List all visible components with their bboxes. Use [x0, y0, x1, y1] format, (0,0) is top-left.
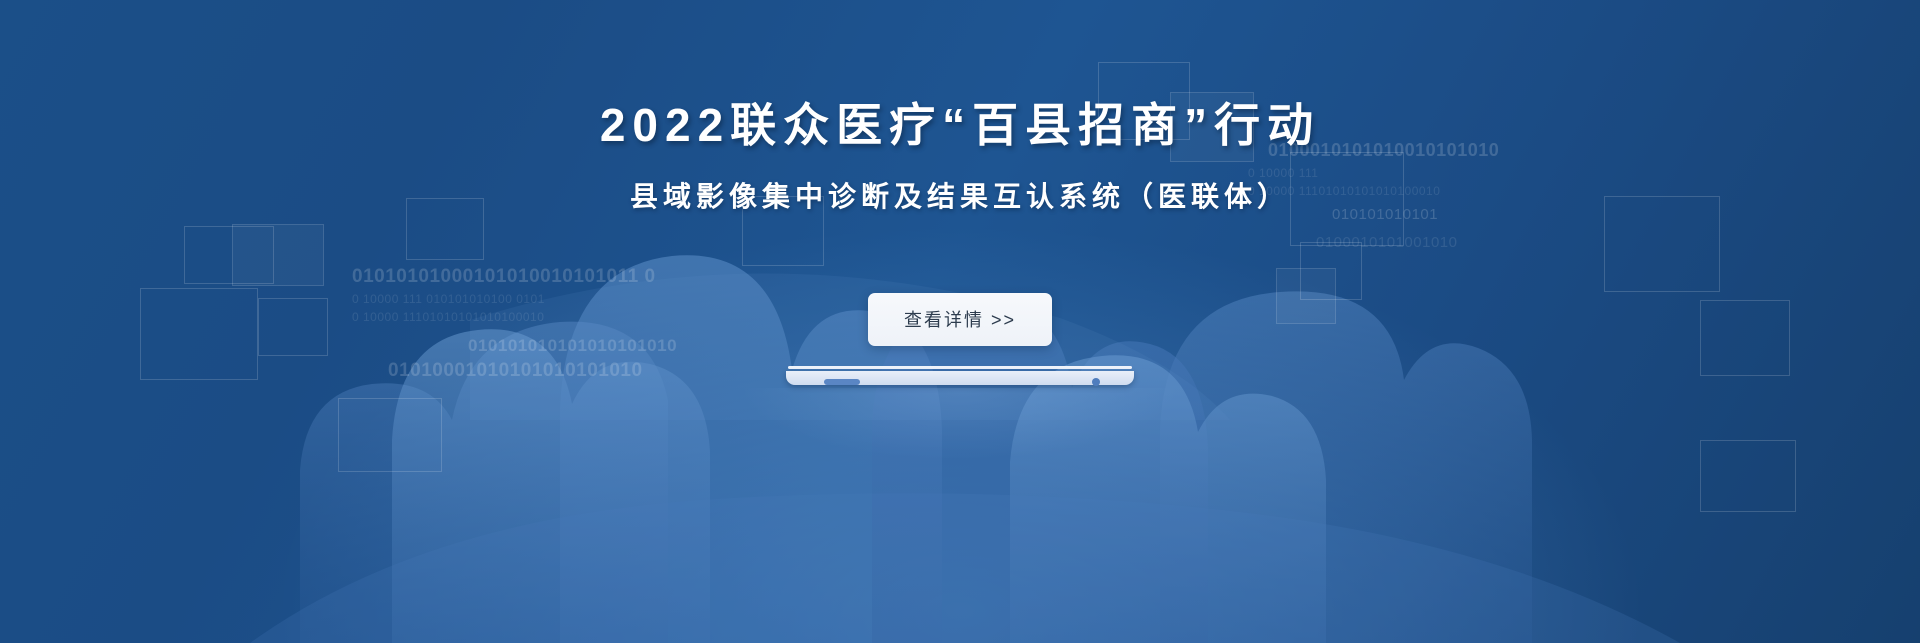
decor-rect-far-right-bottom	[1700, 440, 1796, 512]
device-glow	[745, 388, 1175, 458]
device-body	[786, 371, 1134, 385]
binary-decor-10: 0100010101001010	[1316, 234, 1457, 251]
tablet-device-base	[786, 366, 1134, 387]
hero-banner: 01010101000101010010101011 0 0 10000 111…	[0, 0, 1920, 643]
decor-rect-right-small	[1300, 242, 1362, 300]
decor-rect-left-inner	[184, 226, 274, 284]
decor-rect-bottom-left	[338, 398, 442, 472]
cta-container: 查看详情 >>	[0, 293, 1920, 346]
binary-decor-5: 01010001010101010101010	[388, 360, 643, 382]
page-subtitle: 县域影像集中诊断及结果互认系统（医联体）	[0, 155, 1920, 216]
binary-decor-1: 01010101000101010010101011 0	[352, 266, 656, 288]
device-screen-edge	[788, 366, 1132, 369]
banner-text-block: 2022联众医疗“百县招商”行动 县域影像集中诊断及结果互认系统（医联体）	[0, 0, 1920, 216]
camera-dot-icon	[1092, 378, 1100, 386]
view-details-button[interactable]: 查看详情 >>	[868, 293, 1052, 346]
page-title: 2022联众医疗“百县招商”行动	[0, 0, 1920, 155]
decor-rect-left-filled	[232, 224, 324, 286]
speaker-slot-icon	[824, 379, 860, 385]
